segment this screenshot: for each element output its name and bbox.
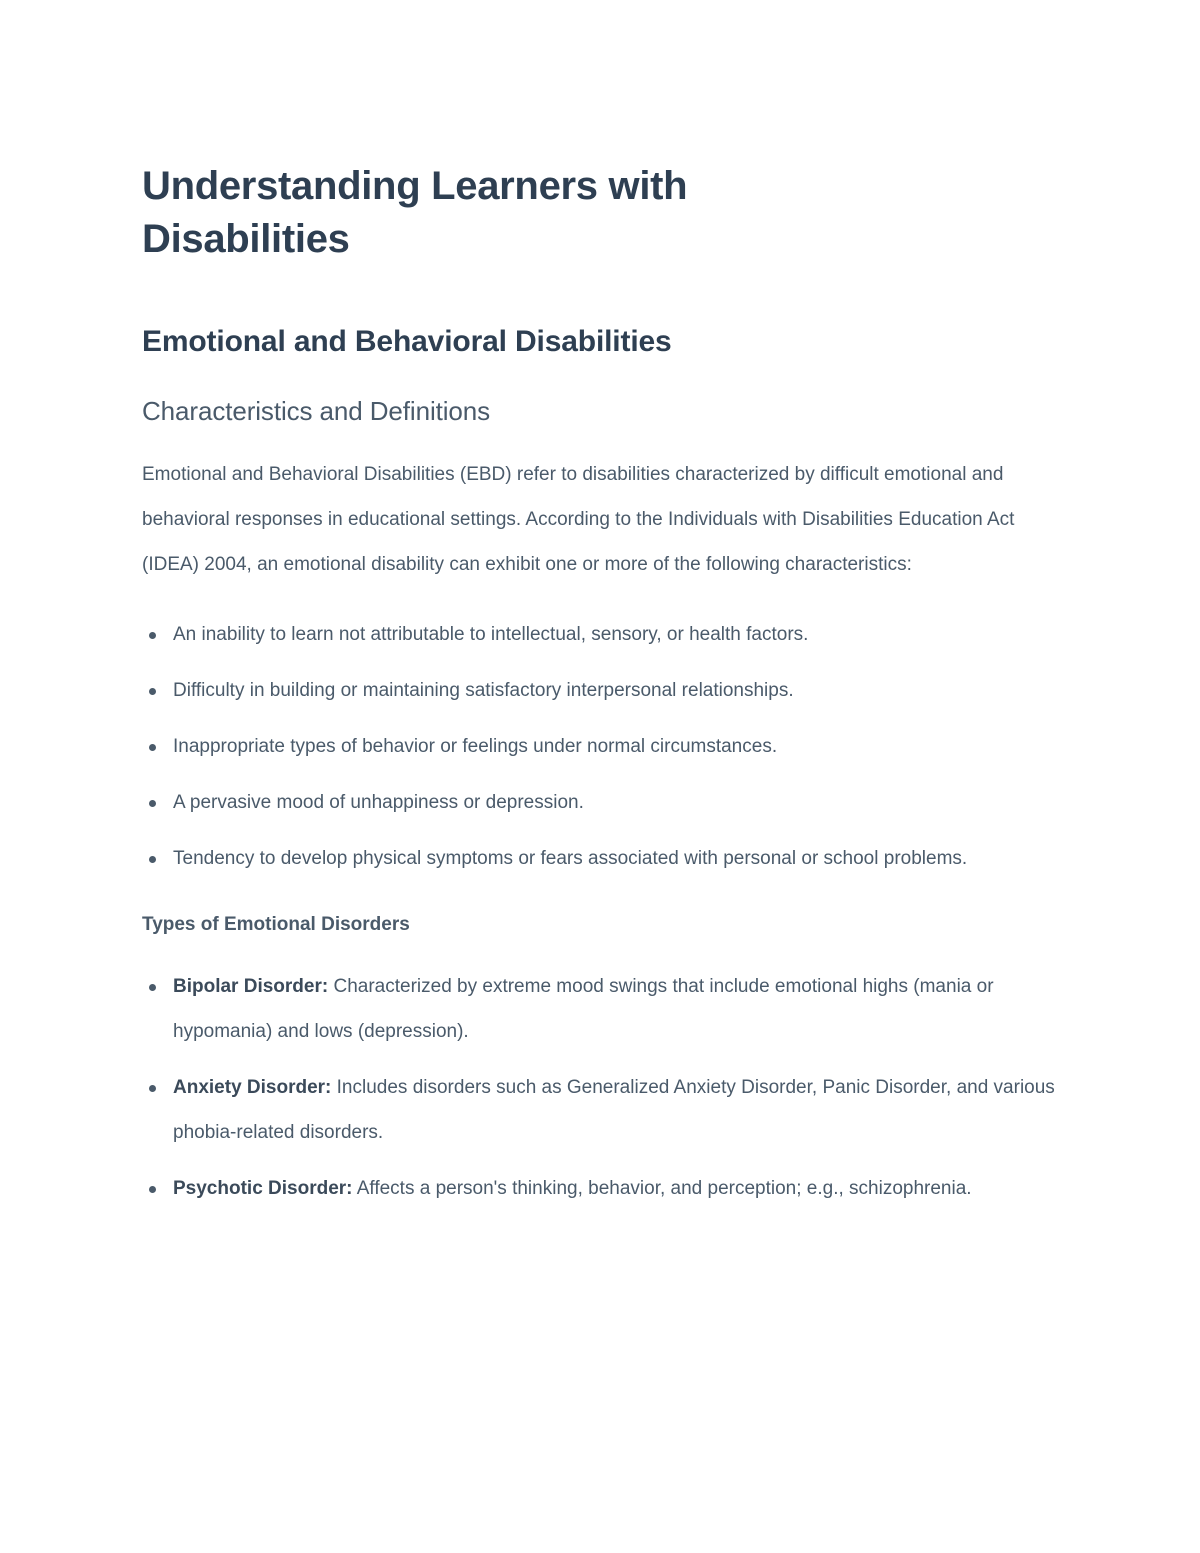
list-item: Bipolar Disorder: Characterized by extre… xyxy=(142,953,1067,1054)
document-page: Understanding Learners with Disabilities… xyxy=(0,0,1200,1553)
list-item-text: An inability to learn not attributable t… xyxy=(173,624,808,645)
list-item-description: Affects a person's thinking, behavior, a… xyxy=(353,1178,972,1199)
list-item: A pervasive mood of unhappiness or depre… xyxy=(142,769,1067,825)
list-item-term: Psychotic Disorder: xyxy=(173,1178,353,1199)
section-heading-emotional-behavioral-disabilities: Emotional and Behavioral Disabilities xyxy=(142,266,1067,362)
list-item: An inability to learn not attributable t… xyxy=(142,601,1067,657)
list-item-term: Bipolar Disorder: xyxy=(173,976,328,997)
page-bottom-spacer xyxy=(142,1211,1067,1401)
list-item: Difficulty in building or maintaining sa… xyxy=(142,657,1067,713)
list-item: Anxiety Disorder: Includes disorders suc… xyxy=(142,1054,1067,1155)
list-item-term: Anxiety Disorder: xyxy=(173,1077,331,1098)
list-item-text: A pervasive mood of unhappiness or depre… xyxy=(173,792,584,813)
characteristics-list: An inability to learn not attributable t… xyxy=(142,587,1067,881)
intro-paragraph: Emotional and Behavioral Disabilities (E… xyxy=(142,428,1067,587)
document-content: Understanding Learners with Disabilities… xyxy=(142,0,1067,1401)
subsection-heading-characteristics-and-definitions: Characteristics and Definitions xyxy=(142,362,1067,428)
subsection-heading-types-of-emotional-disorders: Types of Emotional Disorders xyxy=(142,881,1067,939)
list-item-text: Inappropriate types of behavior or feeli… xyxy=(173,736,777,757)
list-item: Psychotic Disorder: Affects a person's t… xyxy=(142,1155,1067,1211)
page-title: Understanding Learners with Disabilities xyxy=(142,0,872,266)
list-item-text: Tendency to develop physical symptoms or… xyxy=(173,848,967,869)
list-item: Inappropriate types of behavior or feeli… xyxy=(142,713,1067,769)
list-item-text: Difficulty in building or maintaining sa… xyxy=(173,680,794,701)
disorder-types-list: Bipolar Disorder: Characterized by extre… xyxy=(142,939,1067,1211)
list-item: Tendency to develop physical symptoms or… xyxy=(142,825,1067,881)
